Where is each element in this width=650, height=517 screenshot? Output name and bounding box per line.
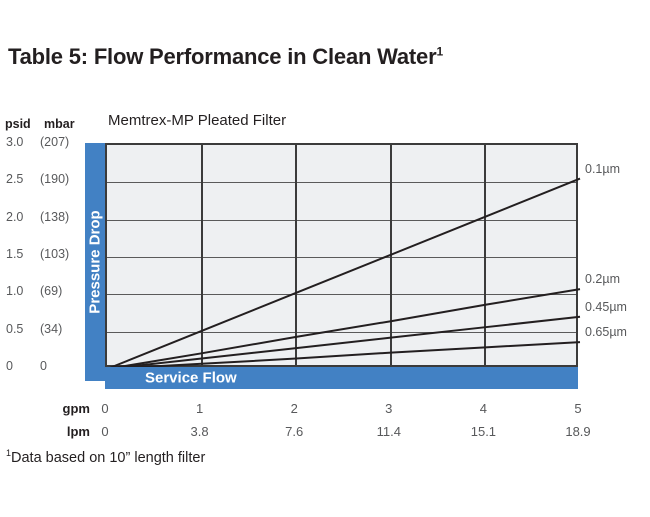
- x-tick-gpm: 1: [165, 401, 235, 416]
- pressure-drop-axis-bar: Pressure Drop: [85, 143, 105, 381]
- x-tick-gpm: 3: [354, 401, 424, 416]
- x-tick-lpm: 3.8: [165, 424, 235, 439]
- page-title-text: Table 5: Flow Performance in Clean Water: [8, 44, 436, 69]
- series-label-3: 0.45µm: [585, 300, 627, 314]
- plot-area: [105, 143, 578, 367]
- series-label-1: 0.1µm: [585, 162, 620, 176]
- x-tick-gpm: 2: [259, 401, 329, 416]
- y-axis-primary-unit-header: psid: [5, 117, 31, 131]
- footnote-text: Data based on 10” length filter: [11, 450, 205, 466]
- service-flow-axis-bar: Service Flow: [105, 367, 578, 389]
- y-tick-psid: 0.5: [6, 322, 36, 336]
- x-tick-lpm: 18.9: [543, 424, 613, 439]
- x-tick-lpm: 7.6: [259, 424, 329, 439]
- y-tick-mbar: (207): [40, 135, 78, 149]
- series-line: [107, 317, 580, 369]
- page-title-superscript: 1: [436, 45, 442, 59]
- x-tick-lpm: 15.1: [448, 424, 518, 439]
- y-tick-psid: 2.0: [6, 210, 36, 224]
- y-axis-secondary-unit-header: mbar: [44, 117, 75, 131]
- series-label-2: 0.2µm: [585, 272, 620, 286]
- series-line: [107, 342, 580, 369]
- y-tick-psid: 0: [6, 359, 36, 373]
- x-tick-lpm: 0: [70, 424, 140, 439]
- series-label-4: 0.65µm: [585, 325, 627, 339]
- series-line: [107, 289, 580, 369]
- x-tick-gpm: 0: [70, 401, 140, 416]
- series-line: [107, 179, 580, 369]
- y-tick-mbar: (34): [40, 322, 78, 336]
- page-title: Table 5: Flow Performance in Clean Water…: [8, 44, 443, 70]
- x-tick-lpm: 11.4: [354, 424, 424, 439]
- y-tick-mbar: (69): [40, 284, 78, 298]
- footnote: 1Data based on 10” length filter: [6, 448, 205, 466]
- y-tick-mbar: (138): [40, 210, 78, 224]
- y-tick-psid: 2.5: [6, 172, 36, 186]
- series-lines: [107, 145, 580, 369]
- y-tick-mbar: (190): [40, 172, 78, 186]
- pressure-drop-axis-label: Pressure Drop: [87, 210, 104, 313]
- y-tick-psid: 3.0: [6, 135, 36, 149]
- y-tick-psid: 1.0: [6, 284, 36, 298]
- y-tick-mbar: (103): [40, 247, 78, 261]
- chart-caption: Memtrex-MP Pleated Filter: [108, 112, 286, 129]
- x-tick-gpm: 5: [543, 401, 613, 416]
- y-tick-psid: 1.5: [6, 247, 36, 261]
- service-flow-axis-label: Service Flow: [145, 370, 237, 387]
- y-tick-mbar: 0: [40, 359, 78, 373]
- x-tick-gpm: 4: [448, 401, 518, 416]
